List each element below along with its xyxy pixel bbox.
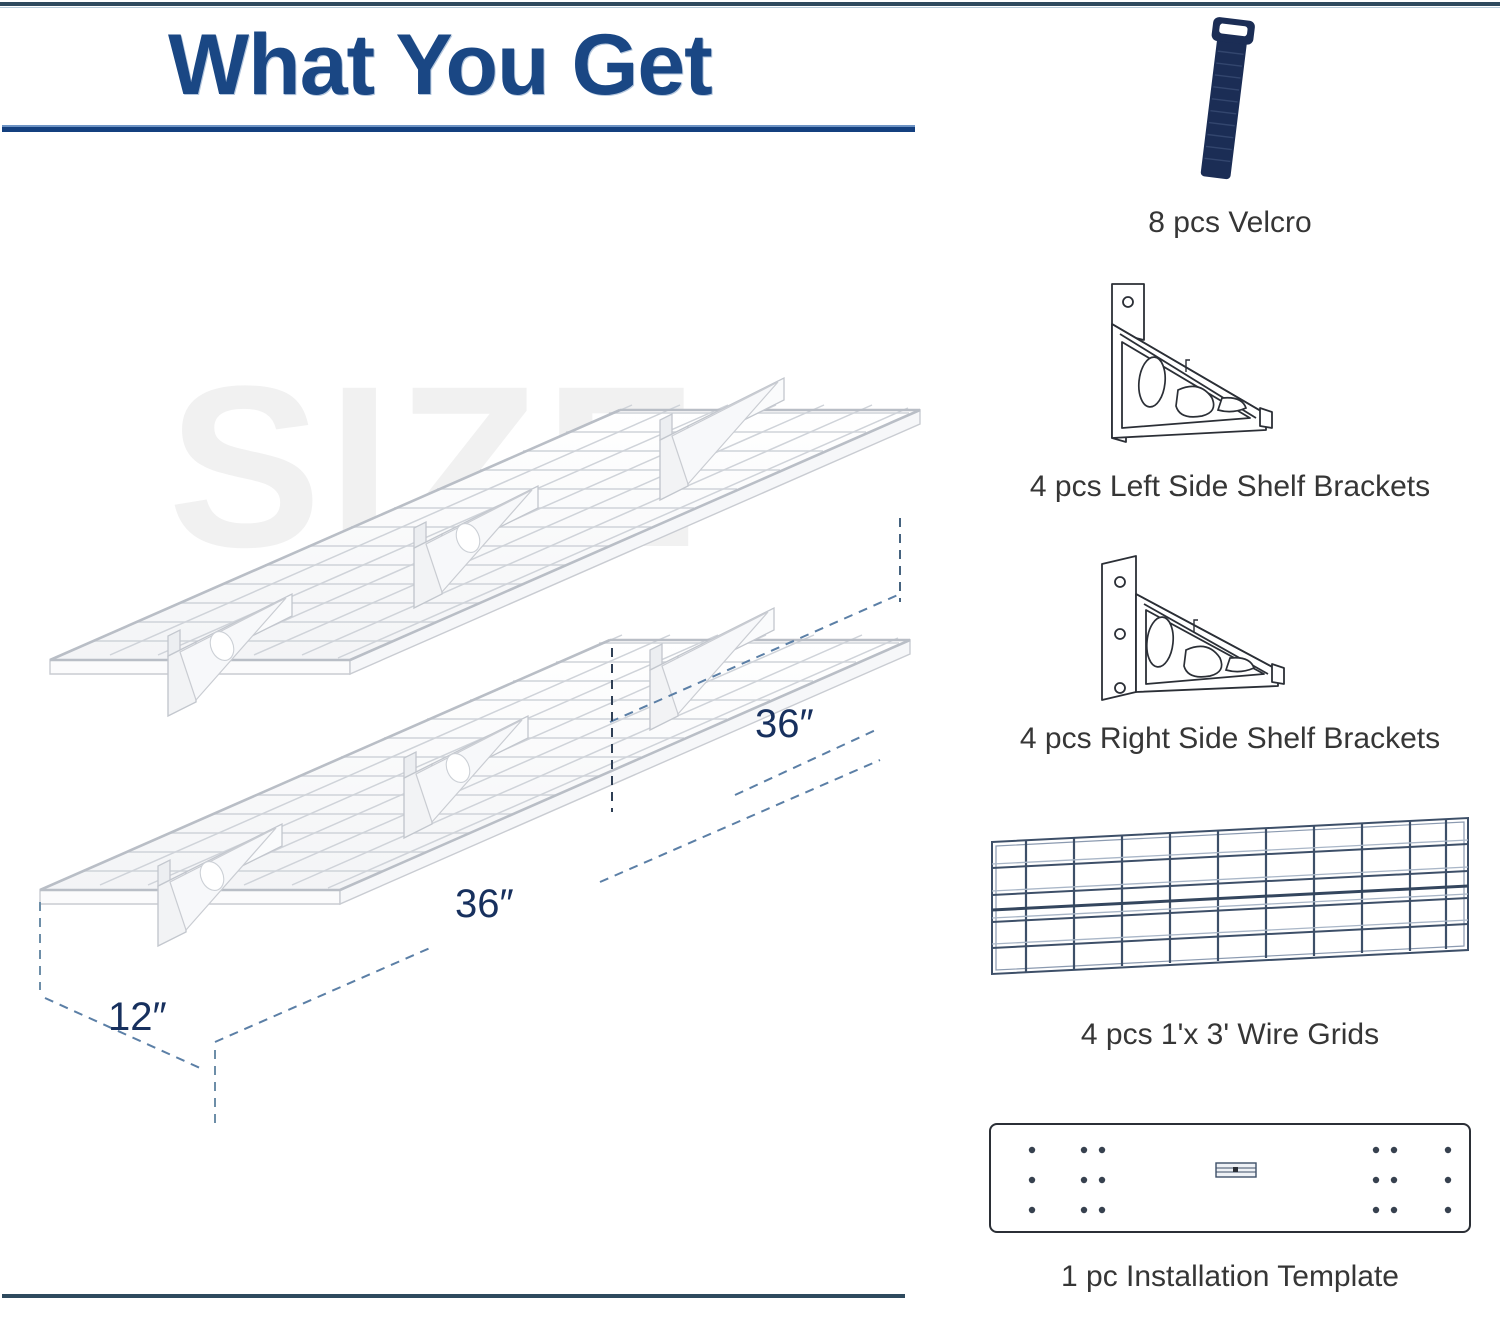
- installation-template-icon: [960, 1110, 1500, 1240]
- part-caption-right-bracket: 4 pcs Right Side Shelf Brackets: [960, 720, 1500, 758]
- bottom-border-rule: [2, 1294, 905, 1298]
- title-underline-rule: [2, 127, 915, 132]
- page-title: What You Get: [168, 17, 712, 113]
- part-caption-installation-template: 1 pc Installation Template: [960, 1258, 1500, 1296]
- left-shelf-bracket-icon: [960, 272, 1500, 452]
- dimension-label-upper-length: 36″: [755, 702, 814, 747]
- part-caption-velcro: 8 pcs Velcro: [960, 204, 1500, 242]
- part-item-wire-grid: 4 pcs 1'x 3' Wire Grids: [960, 800, 1500, 1054]
- right-shelf-bracket-icon: [960, 524, 1500, 708]
- dimension-label-depth: 12″: [108, 995, 167, 1040]
- velcro-strap-icon: [960, 8, 1500, 190]
- part-caption-wire-grid: 4 pcs 1'x 3' Wire Grids: [960, 1016, 1500, 1054]
- part-caption-left-bracket: 4 pcs Left Side Shelf Brackets: [960, 468, 1500, 506]
- level-indicator-icon: [1216, 1163, 1256, 1177]
- dimension-label-lower-length: 36″: [455, 882, 514, 927]
- part-item-left-bracket: 4 pcs Left Side Shelf Brackets: [960, 272, 1500, 506]
- infographic-page: What You Get SIZE: [0, 0, 1500, 1321]
- part-item-velcro: 8 pcs Velcro: [960, 8, 1500, 242]
- parts-list: 8 pcs Velcro: [960, 0, 1500, 1321]
- part-item-right-bracket: 4 pcs Right Side Shelf Brackets: [960, 524, 1500, 758]
- part-item-installation-template: 1 pc Installation Template: [960, 1110, 1500, 1296]
- wire-grid-panel-icon: [960, 800, 1500, 1000]
